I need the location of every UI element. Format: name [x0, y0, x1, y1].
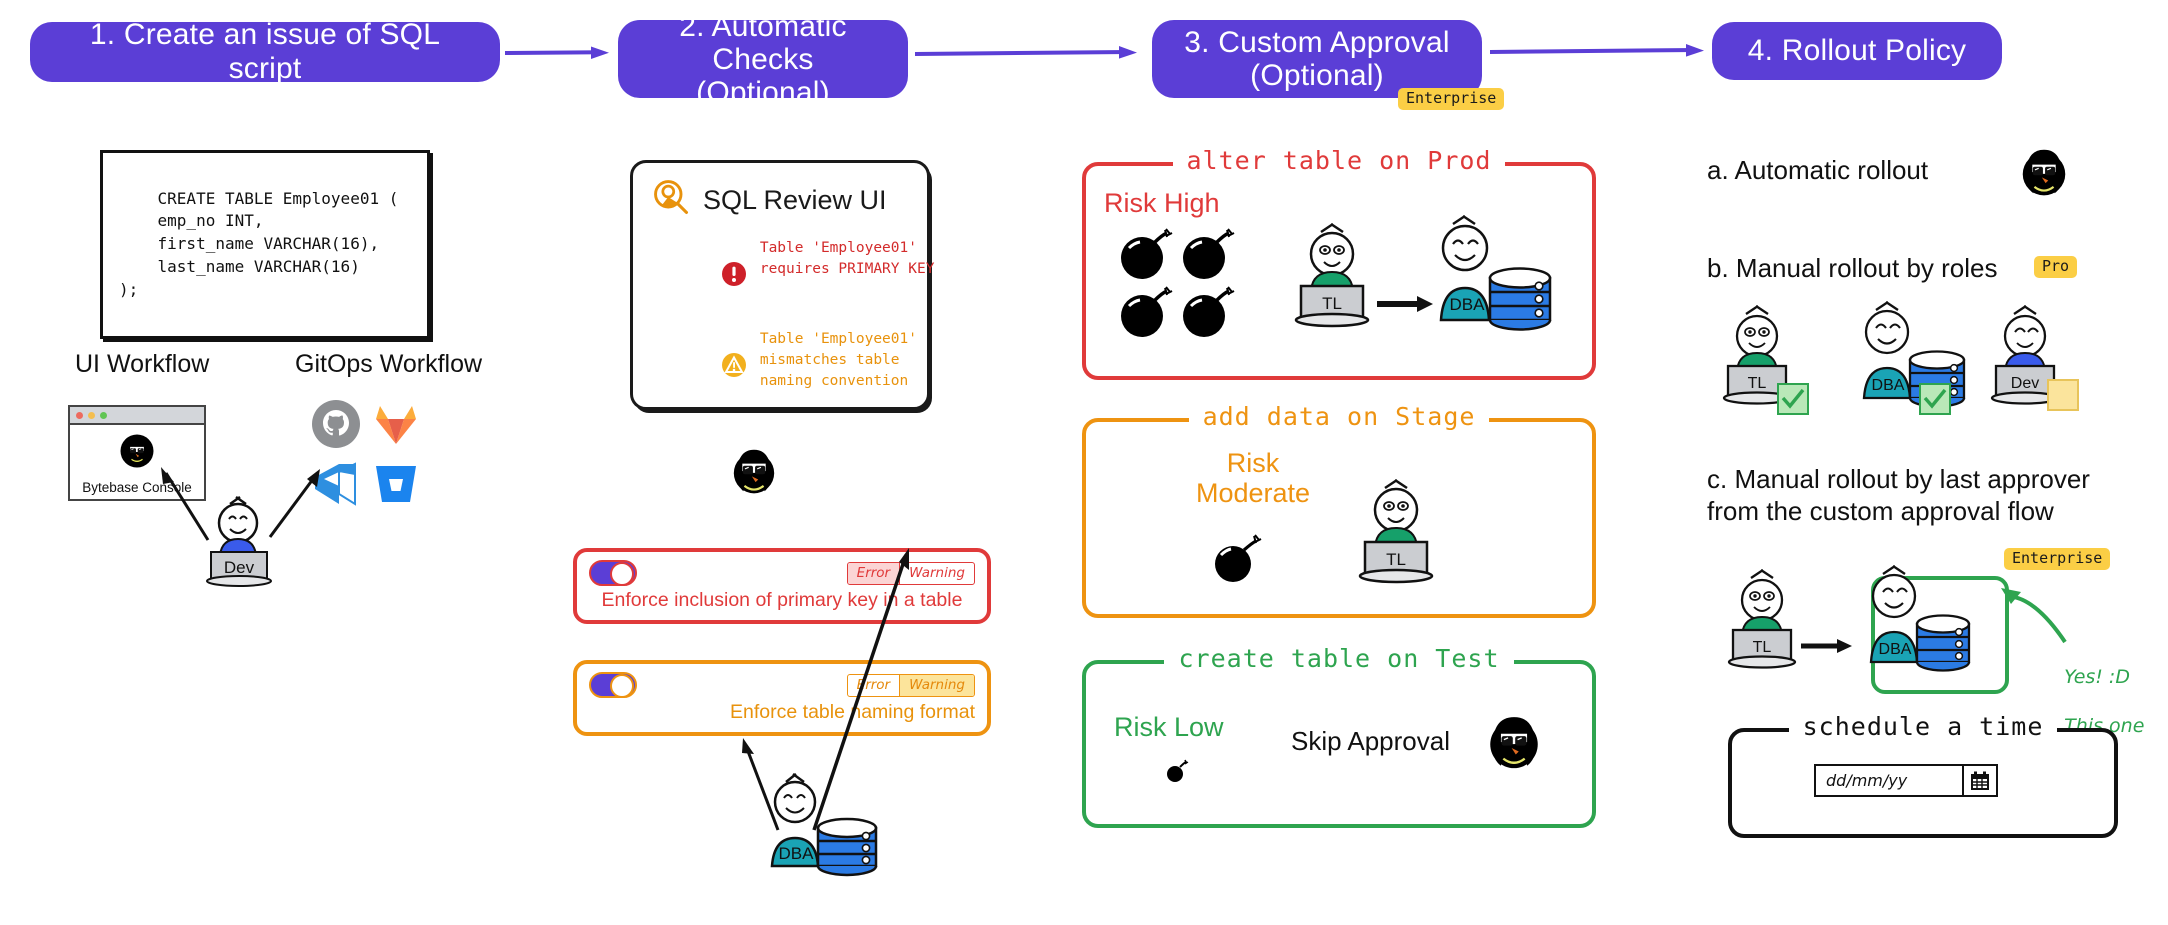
gitops-workflow-label: GitOps Workflow [295, 350, 482, 379]
schedule-date-input-value[interactable]: dd/mm/yy [1816, 766, 1962, 795]
svg-text:Dev: Dev [224, 558, 255, 577]
diagram-canvas: 1. Create an issue of SQL script 2. Auto… [0, 0, 2168, 922]
svg-text:DBA: DBA [779, 844, 815, 863]
step-pill-3-label-line2: (Optional) [1250, 59, 1384, 92]
svg-text:DBA: DBA [1879, 641, 1912, 658]
sql-review-message-error: Table 'Employee01' requires PRIMARY KEY [633, 228, 927, 319]
risk-group-prod-actors: TL DBA [1281, 186, 1581, 381]
bytebase-mascot-icon [1476, 704, 1552, 785]
sql-review-card-title-label: SQL Review UI [703, 185, 887, 216]
risk-group-stage-risk-label: Risk Moderate [1196, 448, 1310, 508]
github-icon[interactable] [310, 398, 362, 450]
svg-text:Dev: Dev [2011, 375, 2039, 392]
svg-text:DBA: DBA [1872, 377, 1905, 394]
step-pill-1-label: 1. Create an issue of SQL script [50, 18, 480, 85]
magnifier-icon [651, 177, 691, 224]
traffic-light-maximize-icon[interactable] [100, 412, 107, 419]
bitbucket-icon[interactable] [370, 458, 422, 510]
step-3-enterprise-badge: Enterprise [1398, 88, 1504, 110]
sql-script-box: CREATE TABLE Employee01 ( emp_no INT, fi… [100, 150, 430, 339]
step-pill-3-label-line1: 3. Custom Approval [1184, 26, 1449, 59]
calendar-icon[interactable] [1962, 766, 1996, 795]
risk-label-line2: Moderate [1196, 478, 1310, 508]
risk-group-test-risk-label: Risk Low [1114, 712, 1224, 742]
schedule-a-time-title: schedule a time [1732, 712, 2114, 741]
rollout-option-b-label: b. Manual rollout by roles [1707, 253, 1997, 285]
step-3-enterprise-badge-label: Enterprise [1406, 89, 1496, 107]
gitlab-icon[interactable] [370, 398, 422, 450]
sql-review-card: SQL Review UI Table 'Employee01' require… [630, 160, 930, 410]
rollout-option-c-label: c. Manual rollout by last approver from … [1707, 464, 2090, 527]
risk-group-stage-bombs [1211, 530, 1271, 595]
risk-group-prod-risk-label: Risk High [1104, 188, 1220, 218]
step-pill-1[interactable]: 1. Create an issue of SQL script [30, 22, 500, 82]
rollout-option-b-actors: TL DBA [1710, 298, 2130, 428]
sql-review-message-warning-text: Table 'Employee01' mismatches table nami… [760, 329, 917, 392]
schedule-a-time-box: schedule a time dd/mm/yy [1728, 728, 2118, 838]
step-pill-4-label: 4. Rollout Policy [1748, 34, 1967, 68]
svg-text:TL: TL [1386, 550, 1406, 569]
ui-workflow-label: UI Workflow [75, 350, 209, 379]
rollout-option-c-line1: c. Manual rollout by last approver [1707, 464, 2090, 494]
sql-review-card-title: SQL Review UI [633, 163, 927, 228]
dba-actor-column2: DBA [680, 560, 940, 925]
rollout-option-b-pro-badge: Pro [2034, 256, 2077, 278]
step-pill-4[interactable]: 4. Rollout Policy [1712, 22, 2002, 80]
step-pill-3[interactable]: 3. Custom Approval (Optional) [1152, 20, 1482, 98]
sql-script-code: CREATE TABLE Employee01 ( emp_no INT, fi… [119, 189, 398, 299]
exclamation-circle-icon [651, 240, 747, 315]
risk-group-test-title: create table on Test [1086, 644, 1592, 673]
review-rule-primary-key-toggle[interactable] [589, 560, 637, 586]
svg-text:TL: TL [1322, 294, 1342, 313]
svg-text:DBA: DBA [1450, 295, 1486, 314]
risk-group-prod-title: alter table on Prod [1086, 146, 1592, 175]
risk-label-line1: Risk [1227, 448, 1280, 478]
risk-group-test-bombs [1164, 756, 1194, 791]
rollout-option-a-label: a. Automatic rollout [1707, 155, 1928, 187]
step-pill-2-label-line1: 2. Automatic Checks [638, 10, 888, 76]
risk-group-stage: add data on Stage Risk Moderate [1082, 418, 1596, 618]
schedule-date-input[interactable]: dd/mm/yy [1814, 764, 1998, 797]
arrow-step2-to-step3 [915, 46, 1145, 56]
risk-group-prod: alter table on Prod Risk High [1082, 162, 1596, 380]
step-pill-2[interactable]: 2. Automatic Checks (Optional) [618, 20, 908, 98]
risk-group-stage-actors: TL [1341, 442, 1501, 617]
annotation-line1: Yes! :D [2064, 666, 2130, 688]
bytebase-mascot-icon [2010, 138, 2078, 211]
sql-review-message-warning: Table 'Employee01' mismatches table nami… [633, 319, 927, 410]
risk-group-stage-title: add data on Stage [1086, 402, 1592, 431]
rollout-option-c-line2: from the custom approval flow [1707, 496, 2054, 526]
warning-triangle-icon [651, 331, 747, 406]
traffic-light-close-icon[interactable] [76, 412, 83, 419]
review-rule-table-naming-toggle[interactable] [589, 672, 637, 698]
arrow-step1-to-step2 [505, 46, 615, 56]
step-pill-2-label-line2: (Optional) [696, 76, 830, 109]
svg-text:TL: TL [1748, 375, 1767, 392]
arrow-step3-to-step4 [1490, 44, 1712, 54]
window-titlebar [70, 407, 204, 425]
svg-text:TL: TL [1753, 639, 1772, 656]
risk-group-test: create table on Test Risk Low Skip Appro… [1082, 660, 1596, 828]
risk-group-test-note: Skip Approval [1291, 726, 1450, 757]
toggle-knob [610, 674, 634, 698]
dev-actor: Dev [148, 455, 328, 600]
traffic-light-minimize-icon[interactable] [88, 412, 95, 419]
risk-group-prod-bombs [1116, 228, 1236, 355]
sql-review-message-error-text: Table 'Employee01' requires PRIMARY KEY [760, 238, 935, 280]
toggle-knob [610, 562, 634, 586]
bytebase-mascot-icon [720, 437, 788, 510]
